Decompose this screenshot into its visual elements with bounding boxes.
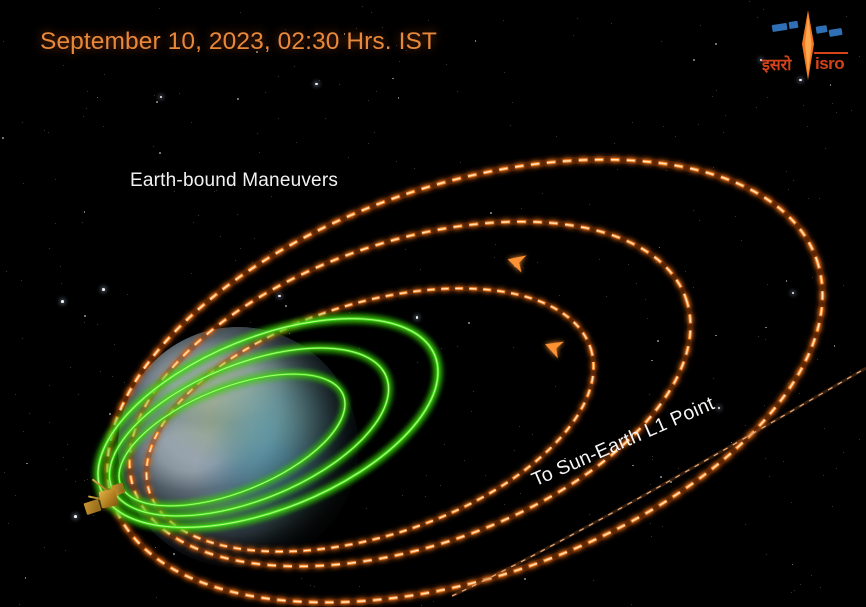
aditya-l1-spacecraft [78,470,136,528]
orbit-direction-arrow-1 [505,251,526,273]
orbital-diagram-scene: September 10, 2023, 02:30 Hrs. IST Earth… [0,0,866,607]
orange-orbit-middle [84,155,735,607]
earth-bound-maneuvers-label: Earth-bound Maneuvers [130,170,338,192]
orbit-direction-arrow-2 [542,336,564,359]
isro-logo: इसरो isro [758,8,854,86]
spacecraft-body [98,488,118,508]
timestamp-label: September 10, 2023, 02:30 Hrs. IST [40,28,437,56]
svg-text:isro: isro [815,54,844,73]
svg-text:इसरो: इसरो [761,55,792,74]
spacecraft-solar-panel [84,499,102,515]
rocket-flame-icon [802,10,814,80]
